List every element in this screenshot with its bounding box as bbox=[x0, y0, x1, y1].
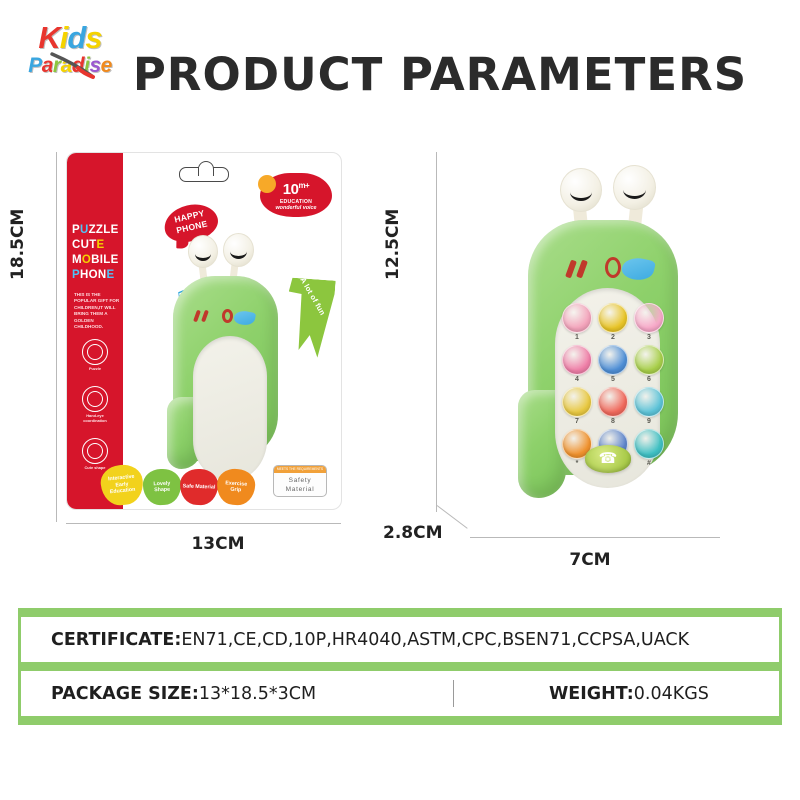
product-toy-phone: 123456789*0# ☎ bbox=[500, 160, 722, 520]
package-dim-vertical-line bbox=[56, 152, 57, 522]
keypad-key-8[interactable] bbox=[598, 387, 628, 417]
gear-flower-icon bbox=[82, 438, 108, 464]
keypad-key-1[interactable] bbox=[562, 303, 592, 333]
package-size-value: 13*18.5*3CM bbox=[199, 684, 316, 704]
mouth-icon bbox=[605, 257, 621, 278]
package-size-text: PACKAGE SIZE:13*18.5*3CM bbox=[21, 684, 316, 704]
spec-column-divider bbox=[453, 680, 454, 707]
keypad-key-3[interactable] bbox=[634, 303, 664, 333]
keypad-key-6[interactable] bbox=[634, 345, 664, 375]
call-button[interactable]: ☎ bbox=[585, 445, 631, 473]
spec-bar-middle bbox=[21, 662, 779, 671]
package-size-label: PACKAGE SIZE: bbox=[51, 684, 199, 704]
sun-icon bbox=[258, 175, 276, 193]
safety-material-seal: MEETS THE REQUIREMENTS Safety Material bbox=[273, 465, 327, 497]
brand-logo: Kids Paradise bbox=[22, 22, 118, 90]
keypad-key-5[interactable] bbox=[598, 345, 628, 375]
package-blister-card: PUZZLE CUTE MOBILE PHONE THIS IS THE POP… bbox=[66, 152, 342, 510]
product-dim-horizontal-line bbox=[470, 537, 720, 538]
keypad-label-7: 7 bbox=[562, 418, 592, 425]
tag-exercise-grip: Exercise Grip bbox=[216, 468, 256, 507]
package-title-text: PUZZLE CUTE MOBILE PHONE bbox=[72, 223, 124, 283]
tag-lovely-shape: Lovely Shape bbox=[142, 468, 181, 505]
logo-paradise-text: Paradise bbox=[22, 55, 118, 76]
feature-icon-hand-eye: Hand-eye coordination bbox=[79, 386, 111, 423]
seal-main-text: Safety Material bbox=[274, 473, 326, 494]
weight-value: 0.04KGS bbox=[634, 684, 709, 704]
tag-safe-material: Safe Material bbox=[179, 468, 218, 505]
weight-text: WEIGHT:0.04KGS bbox=[549, 684, 709, 704]
keypad-key-4[interactable] bbox=[562, 345, 592, 375]
product-width-label: 7CM bbox=[500, 550, 680, 570]
mouth-icon bbox=[222, 309, 233, 323]
certificate-value: EN71,CE,CD,10P,HR4040,ASTM,CPC,BSEN71,CC… bbox=[181, 630, 689, 650]
age-sub-voice: wonderful voice bbox=[260, 205, 332, 211]
product-depth-label: 2.8CM bbox=[383, 523, 443, 543]
page-title: PRODUCT PARAMETERS bbox=[110, 48, 770, 101]
age-badge: 10m+ EDUCATION wonderful voice bbox=[260, 173, 332, 217]
seal-top-text: MEETS THE REQUIREMENTS bbox=[274, 466, 326, 473]
puzzle-ring-icon bbox=[82, 339, 108, 365]
keypad-key-2[interactable] bbox=[598, 303, 628, 333]
spec-row-package-weight: PACKAGE SIZE:13*18.5*3CM WEIGHT:0.04KGS bbox=[21, 671, 779, 716]
certificate-text: CERTIFICATE:EN71,CE,CD,10P,HR4040,ASTM,C… bbox=[21, 630, 689, 650]
eye-right bbox=[613, 165, 656, 210]
spec-bar-top bbox=[21, 608, 779, 617]
spec-bar-bottom bbox=[21, 716, 779, 725]
eye-left bbox=[188, 235, 218, 268]
keypad-label-5: 5 bbox=[598, 376, 628, 383]
product-height-label: 12.5CM bbox=[383, 209, 403, 280]
page-header: Kids Paradise PRODUCT PARAMETERS bbox=[0, 0, 800, 120]
weight-label: WEIGHT: bbox=[549, 684, 634, 704]
keypad-label-1: 1 bbox=[562, 334, 592, 341]
package-width-label: 13CM bbox=[128, 534, 308, 554]
keypad-label-#: # bbox=[634, 460, 664, 467]
feature-icon-cute-shape: Cute shape bbox=[79, 438, 111, 471]
logo-kids-text: Kids bbox=[22, 22, 118, 53]
keypad-label-2: 2 bbox=[598, 334, 628, 341]
keypad-label-9: 9 bbox=[634, 418, 664, 425]
keypad-key-9[interactable] bbox=[634, 387, 664, 417]
feature-label: Hand-eye coordination bbox=[79, 414, 111, 423]
keypad-key-#[interactable] bbox=[634, 429, 664, 459]
keypad-label-8: 8 bbox=[598, 418, 628, 425]
arrow-label: A lot of fun bbox=[298, 276, 327, 318]
keypad-label-6: 6 bbox=[634, 376, 664, 383]
product-dim-vertical-line bbox=[436, 152, 437, 512]
keypad-key-7[interactable] bbox=[562, 387, 592, 417]
eye-left bbox=[560, 168, 602, 212]
feature-label: Puzzle bbox=[79, 367, 111, 372]
keypad-panel bbox=[193, 336, 267, 481]
spec-row-certificate: CERTIFICATE:EN71,CE,CD,10P,HR4040,ASTM,C… bbox=[21, 617, 779, 662]
certificate-label: CERTIFICATE: bbox=[51, 630, 181, 650]
eye-right bbox=[223, 233, 254, 267]
hang-hole-icon bbox=[179, 167, 229, 182]
package-dim-horizontal-line bbox=[66, 523, 341, 524]
hand-eye-icon bbox=[82, 386, 108, 412]
spec-table: CERTIFICATE:EN71,CE,CD,10P,HR4040,ASTM,C… bbox=[18, 608, 782, 725]
package-description: THIS IS THE POPULAR GIFT FOR CHILDREN,IT… bbox=[74, 292, 120, 330]
package-height-label: 18.5CM bbox=[8, 209, 28, 280]
toy-phone-in-package bbox=[159, 221, 294, 476]
feature-icon-puzzle: Puzzle bbox=[79, 339, 111, 372]
keypad-label-3: 3 bbox=[634, 334, 664, 341]
keypad-label-4: 4 bbox=[562, 376, 592, 383]
